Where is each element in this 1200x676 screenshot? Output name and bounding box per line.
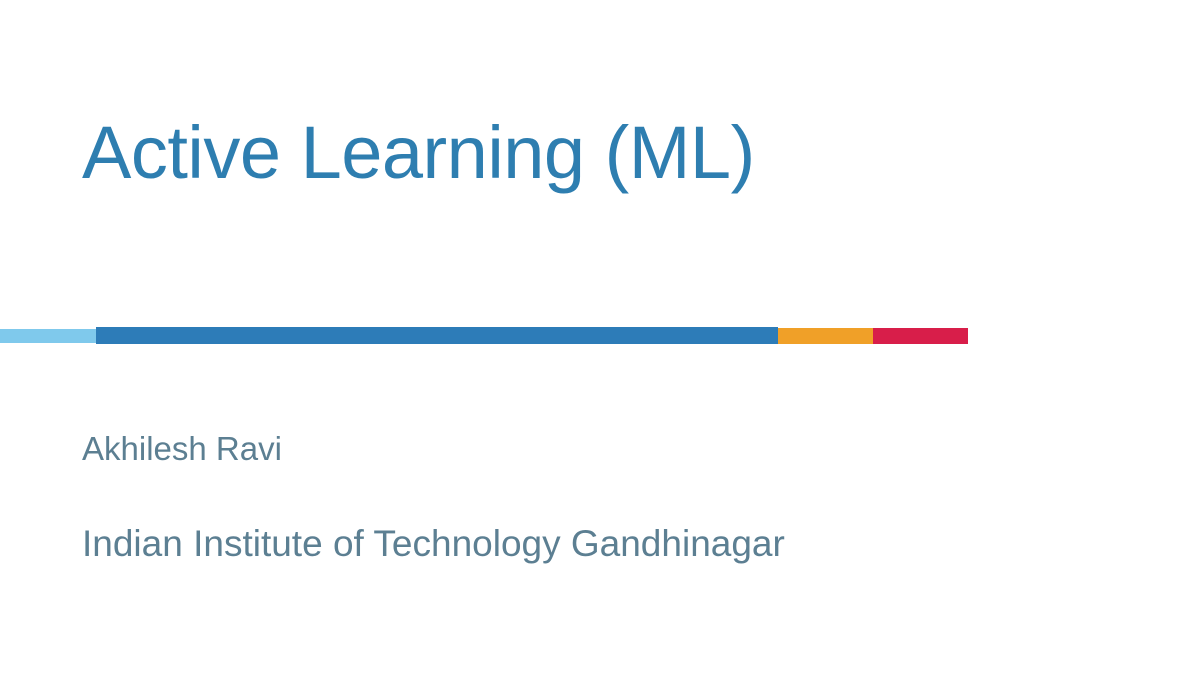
divider-segment-blue [96,327,778,344]
author-name: Akhilesh Ravi [82,432,282,465]
divider-segment-orange [778,328,873,344]
presentation-title-slide: Active Learning (ML) Akhilesh Ravi India… [0,0,1200,676]
author-affiliation: Indian Institute of Technology Gandhinag… [82,525,785,562]
divider-segment-crimson [873,328,968,344]
divider-segment-light-blue [0,329,96,343]
page-title: Active Learning (ML) [82,116,755,190]
accent-divider-bar [0,327,1200,345]
